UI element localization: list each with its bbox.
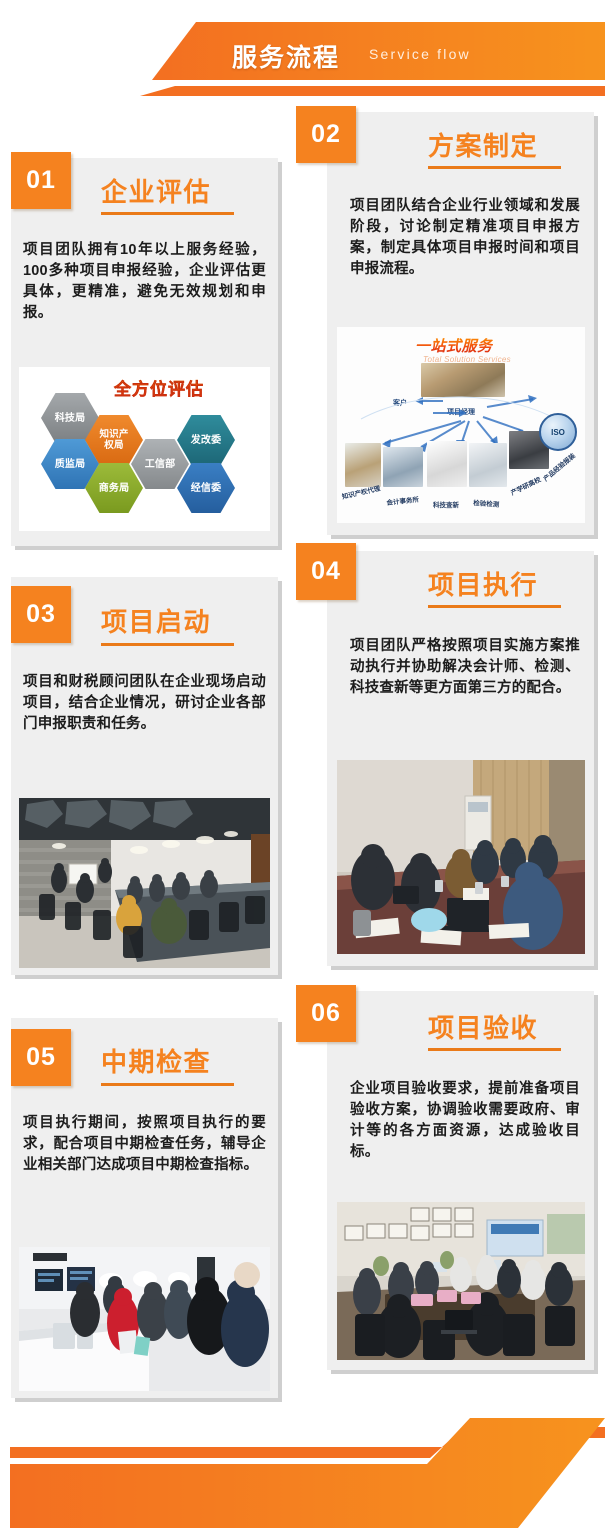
hex-node-4: 工信部 bbox=[131, 439, 189, 489]
onestop-leaf-2: 科技查新 bbox=[433, 499, 459, 509]
card-title-04: 项目执行 bbox=[428, 565, 538, 602]
hex-node-label: 科技局 bbox=[55, 413, 86, 424]
card-badge-01: 01 bbox=[11, 152, 71, 209]
hex-node-label: 知识产权局 bbox=[97, 429, 131, 451]
card-body-06: 企业项目验收要求，提前准备项目验收方案，协调验收需要政府、审计等的各方面资源，达… bbox=[350, 1079, 580, 1163]
photo-illustration bbox=[337, 1202, 585, 1360]
onestop-leaf-photo-1 bbox=[383, 447, 423, 487]
card-title-rule-04 bbox=[428, 605, 561, 608]
card-title-rule-05 bbox=[101, 1083, 234, 1086]
card-photo-05 bbox=[19, 1247, 270, 1391]
hexfig-title: 全方位评估 bbox=[114, 375, 204, 400]
card-photo-06 bbox=[337, 1202, 585, 1360]
card-body-05: 项目执行期间，按照项目执行的要求，配合项目中期检查任务，辅导企业相关部门达成项目… bbox=[23, 1113, 266, 1176]
hex-node-label: 工信部 bbox=[145, 459, 176, 470]
card-body-04: 项目团队严格按照项目实施方案推动执行并协助解决会计师、检测、科技查新等更方面第三… bbox=[350, 636, 580, 699]
service-flow-page: 服务流程 Service flow 01 企业评估 项目团队拥有10年以上服务经… bbox=[0, 0, 605, 1538]
card-badge-06: 06 bbox=[296, 985, 356, 1042]
onestop-leaf-photo-3 bbox=[469, 443, 507, 487]
footer-banner-shape bbox=[0, 1418, 605, 1538]
page-footer: 全国统一热线： 400-150-1560 bbox=[0, 1418, 605, 1538]
card-photo-03 bbox=[19, 798, 270, 968]
photo-illustration bbox=[19, 1247, 270, 1391]
card-badge-02: 02 bbox=[296, 106, 356, 163]
card-badge-03: 03 bbox=[11, 586, 71, 643]
card-badge-05: 05 bbox=[11, 1029, 71, 1086]
card-title-rule-02 bbox=[428, 166, 561, 169]
hex-node-6: 经信委 bbox=[177, 463, 235, 513]
hex-node-label: 商务局 bbox=[99, 483, 130, 494]
onestop-seal-icon: ISO bbox=[539, 413, 577, 451]
hex-node-label: 质监局 bbox=[55, 459, 86, 470]
seal-label: ISO bbox=[551, 428, 565, 437]
onestop-leaf-3: 检验检测 bbox=[473, 497, 500, 509]
hex-node-5: 发改委 bbox=[177, 415, 235, 465]
hex-node-label: 发改委 bbox=[191, 435, 222, 446]
card-body-02: 项目团队结合企业行业领域和发展阶段，讨论制定精准项目申报方案，制定具体项目申报时… bbox=[350, 196, 580, 280]
header-subtitle: Service flow bbox=[369, 46, 471, 62]
card-title-05: 中期检查 bbox=[101, 1042, 211, 1079]
card-title-06: 项目验收 bbox=[428, 1008, 538, 1045]
card-title-03: 项目启动 bbox=[101, 602, 211, 639]
card-figure-01: 全方位评估 科技局 知识产权局 质监局 商务局 工信部 发改委 经信委 bbox=[19, 367, 270, 531]
card-body-03: 项目和财税顾问团队在企业现场启动项目，结合企业情况，研讨企业各部门申报职责和任务… bbox=[23, 672, 266, 735]
card-title-rule-06 bbox=[428, 1048, 561, 1051]
hex-node-label: 经信委 bbox=[191, 483, 222, 494]
header-title: 服务流程 bbox=[232, 38, 340, 74]
card-title-01: 企业评估 bbox=[101, 172, 211, 209]
card-figure-02: 一站式服务 Total Solution Services 客户 项目经理 bbox=[337, 327, 585, 523]
card-title-rule-01 bbox=[101, 212, 234, 215]
onestop-leaf-photo-2 bbox=[427, 441, 467, 487]
page-header: 服务流程 Service flow bbox=[0, 0, 605, 112]
card-badge-04: 04 bbox=[296, 543, 356, 600]
onestop-leaf-photo-0 bbox=[345, 443, 381, 487]
card-title-02: 方案制定 bbox=[428, 126, 538, 163]
card-photo-04 bbox=[337, 760, 585, 954]
photo-illustration bbox=[19, 798, 270, 968]
card-body-01: 项目团队拥有10年以上服务经验，100多种项目申报经验，企业评估更具体，更精准，… bbox=[23, 240, 266, 324]
photo-illustration bbox=[337, 760, 585, 954]
card-title-rule-03 bbox=[101, 643, 234, 646]
